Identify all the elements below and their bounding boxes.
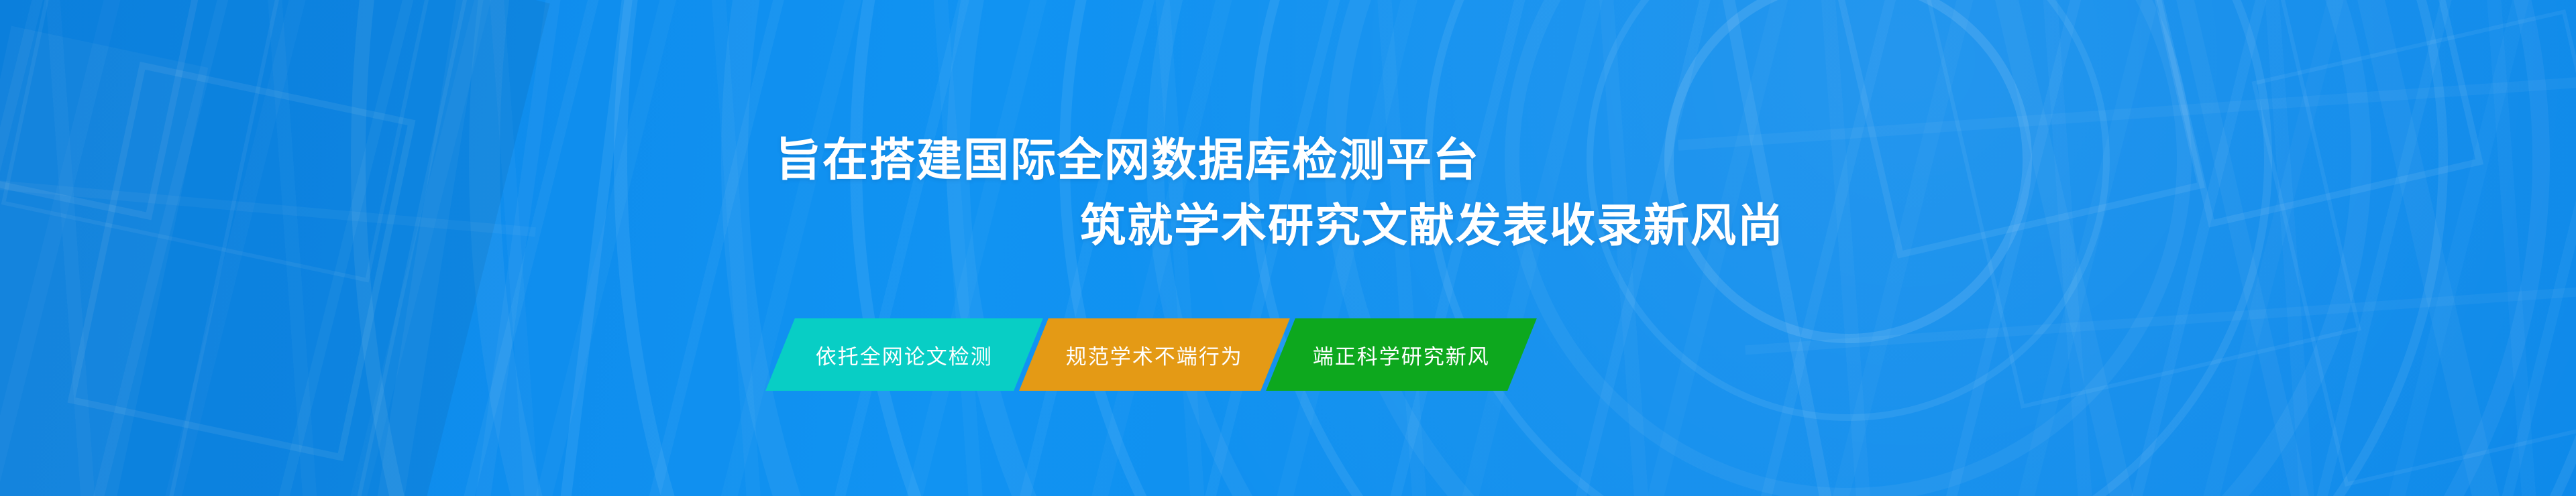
feature-tag-misconduct[interactable]: 规范学术不端行为 xyxy=(1019,318,1290,391)
feature-tag-label: 依托全网论文检测 xyxy=(816,340,993,370)
feature-tag-label: 端正科学研究新风 xyxy=(1313,340,1490,370)
feature-tag-strip: 依托全网论文检测 规范学术不端行为 端正科学研究新风 xyxy=(780,318,1522,391)
feature-tag-detection[interactable]: 依托全网论文检测 xyxy=(765,318,1043,391)
left-shadow-wedge xyxy=(0,0,550,496)
feature-tag-integrity[interactable]: 端正科学研究新风 xyxy=(1266,318,1537,391)
headline-line-1: 旨在搭建国际全网数据库检测平台 xyxy=(775,137,1480,183)
headline-line-2: 筑就学术研究文献发表收录新风尚 xyxy=(1080,203,1784,249)
feature-tag-label: 规范学术不端行为 xyxy=(1066,340,1243,370)
promo-banner: 旨在搭建国际全网数据库检测平台 筑就学术研究文献发表收录新风尚 依托全网论文检测… xyxy=(0,0,2576,496)
